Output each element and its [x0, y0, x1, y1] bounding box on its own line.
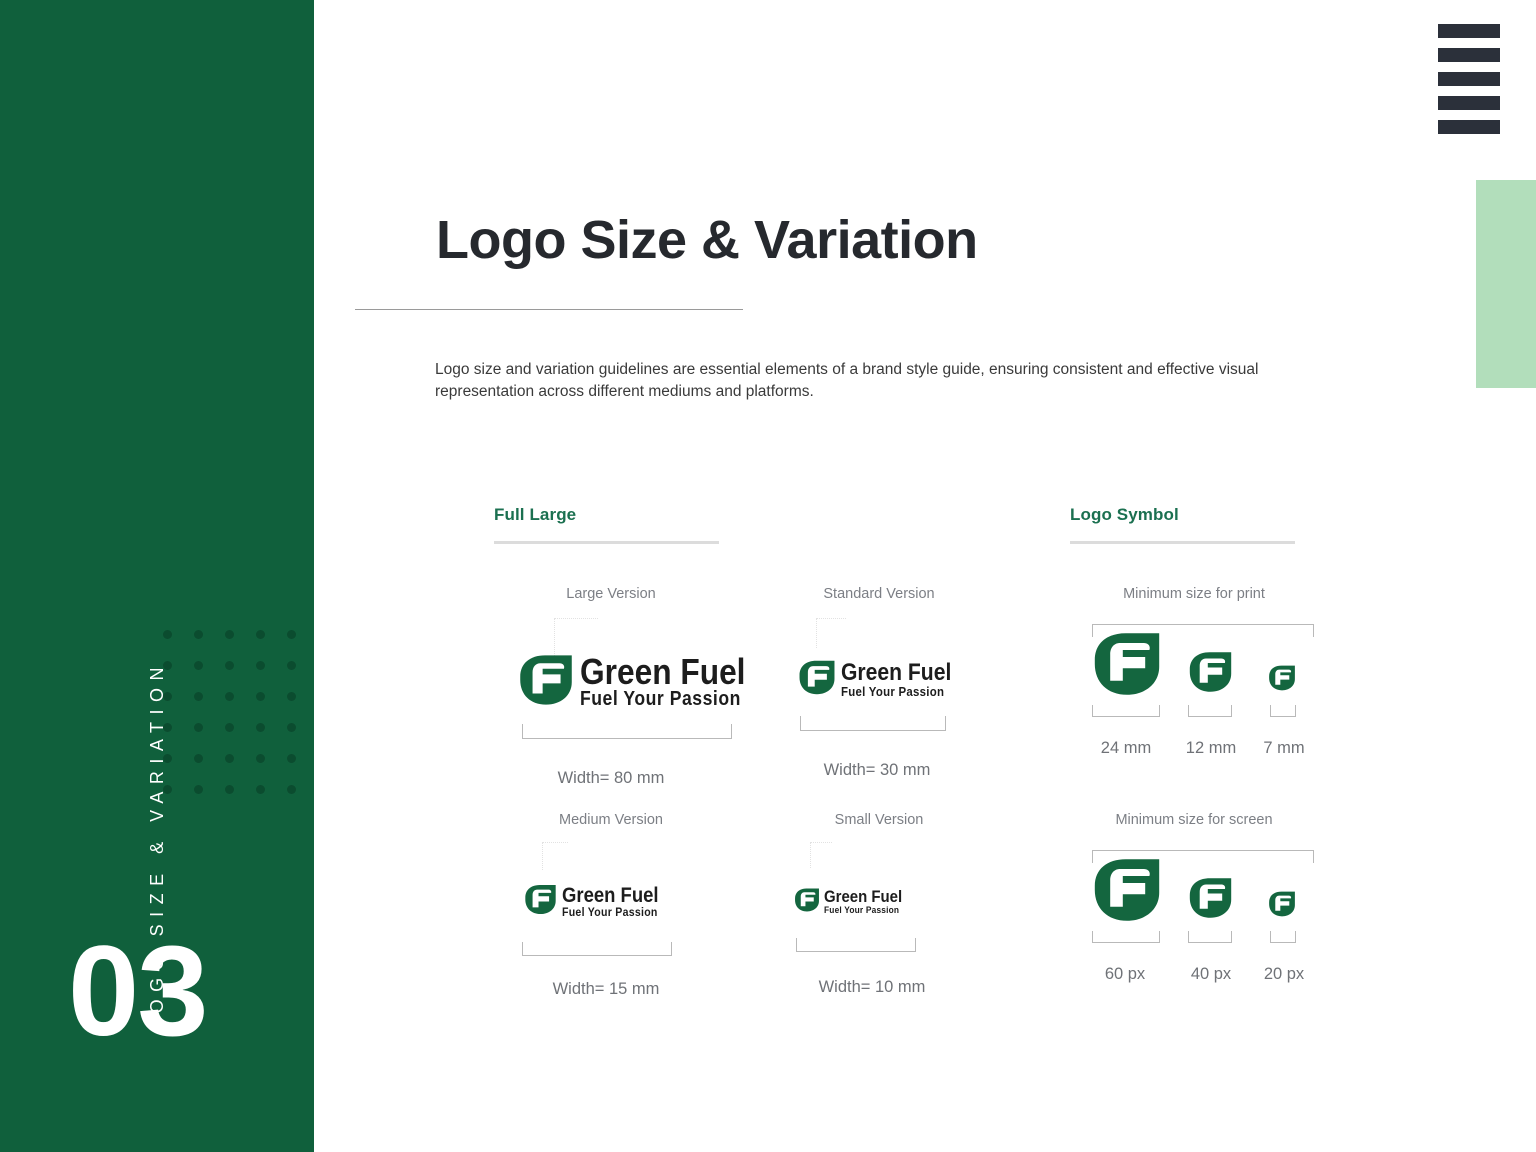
specimen-small-version: Small Version Green Fuel Fuel Your Passi… — [754, 812, 1004, 997]
decor-dot — [287, 630, 296, 639]
slide-content: Logo Size & Variation Logo size and vari… — [314, 0, 1536, 1152]
logo-wordmark: Green Fuel Fuel Your Passion — [580, 655, 768, 710]
clearspace-guide-icon — [816, 618, 846, 648]
width-bracket — [1188, 931, 1232, 943]
logo-wordmark: Green Fuel Fuel Your Passion — [824, 889, 913, 915]
decor-dot — [163, 754, 172, 763]
page-number: 03 — [68, 928, 206, 1056]
specimen-measure: Width= 30 mm — [750, 761, 1004, 780]
symbol-specimen — [1268, 665, 1296, 696]
specimen-standard-version: Standard Version Green Fuel Fuel Your Pa… — [754, 586, 1004, 780]
specimen-measure: Width= 10 mm — [740, 978, 1004, 997]
decor-dot — [163, 661, 172, 670]
symbol-specimen — [1188, 877, 1233, 924]
decor-dot — [225, 692, 234, 701]
decor-dot — [287, 661, 296, 670]
green-fuel-leaf-f-mark — [524, 884, 557, 920]
specimen-measure: Width= 80 mm — [466, 769, 756, 788]
green-fuel-leaf-f-mark — [1188, 877, 1233, 919]
section-divider-full-large — [494, 541, 719, 544]
section-divider-logo-symbol — [1070, 541, 1295, 544]
decor-dot — [287, 785, 296, 794]
symbol-group-label: Minimum size for screen — [1054, 812, 1334, 828]
decor-dot — [163, 692, 172, 701]
logo-wordmark: Green Fuel Fuel Your Passion — [841, 662, 966, 698]
symbol-group-label: Minimum size for print — [1054, 586, 1334, 602]
specimen-label: Medium Version — [466, 812, 756, 828]
symbol-measure: 12 mm — [1178, 739, 1244, 758]
logo-tagline: Fuel Your Passion — [562, 906, 659, 919]
decor-dot — [256, 754, 265, 763]
clearspace-guide-icon — [810, 842, 832, 868]
width-bracket — [522, 942, 672, 956]
specimen-label: Standard Version — [754, 586, 1004, 602]
green-fuel-leaf-f-mark — [1092, 631, 1162, 697]
green-fuel-leaf-f-mark — [1092, 857, 1162, 923]
logo-tagline: Fuel Your Passion — [824, 906, 902, 916]
logo-name: Green Fuel — [562, 886, 659, 906]
logo-lockup: Green Fuel Fuel Your Passion — [518, 654, 768, 711]
logo-lockup: Green Fuel Fuel Your Passion — [794, 888, 913, 917]
symbol-measure: 60 px — [1086, 965, 1164, 984]
clearspace-guide-icon — [542, 842, 568, 870]
green-fuel-leaf-f-mark — [1188, 651, 1233, 693]
symbol-specimen — [1092, 631, 1162, 702]
decor-dot — [256, 723, 265, 732]
logo-name: Green Fuel — [580, 655, 745, 689]
decor-dot — [163, 785, 172, 794]
decor-dot — [225, 630, 234, 639]
decor-dot — [163, 630, 172, 639]
specimen-medium-version: Medium Version Green Fuel Fuel Your Pass… — [466, 812, 756, 999]
decor-dot — [287, 692, 296, 701]
width-bracket — [1092, 931, 1160, 943]
decor-dot — [194, 785, 203, 794]
decorative-dot-grid — [163, 630, 313, 790]
logo-name: Green Fuel — [824, 889, 902, 905]
decor-dot — [225, 661, 234, 670]
width-bracket — [522, 724, 732, 739]
green-fuel-leaf-f-mark — [798, 660, 836, 700]
width-bracket — [796, 938, 916, 952]
symbol-measure: 7 mm — [1258, 739, 1310, 758]
decor-dot — [287, 723, 296, 732]
decor-dot — [194, 692, 203, 701]
symbol-measure: 40 px — [1176, 965, 1246, 984]
logo-tagline: Fuel Your Passion — [841, 685, 951, 699]
decor-dot — [256, 785, 265, 794]
logo-wordmark: Green Fuel Fuel Your Passion — [562, 886, 672, 919]
specimen-large-version: Large Version Green Fuel Fuel Your Passi… — [466, 586, 756, 788]
decor-dot — [194, 723, 203, 732]
green-fuel-leaf-f-mark — [1268, 891, 1296, 917]
specimen-measure: Width= 15 mm — [456, 980, 756, 999]
section-full-large: Full Large — [494, 505, 719, 544]
decor-dot — [225, 785, 234, 794]
decor-dot — [225, 754, 234, 763]
intro-paragraph: Logo size and variation guidelines are e… — [435, 359, 1355, 403]
decor-dot — [225, 723, 234, 732]
width-bracket — [800, 716, 946, 731]
decor-dot — [287, 754, 296, 763]
logo-tagline: Fuel Your Passion — [580, 689, 745, 710]
specimen-label: Large Version — [466, 586, 756, 602]
logo-lockup: Green Fuel Fuel Your Passion — [798, 660, 966, 700]
symbol-group-screen: Minimum size for screen — [1054, 812, 1334, 965]
decor-dot — [256, 661, 265, 670]
page-title: Logo Size & Variation — [436, 209, 978, 271]
decor-dot — [194, 630, 203, 639]
decor-dot — [163, 723, 172, 732]
width-bracket — [1270, 931, 1296, 943]
section-title-full-large: Full Large — [494, 505, 719, 525]
decor-dot — [256, 692, 265, 701]
symbol-measure: 24 mm — [1088, 739, 1164, 758]
specimen-label: Small Version — [754, 812, 1004, 828]
section-logo-symbol: Logo Symbol — [1070, 505, 1295, 544]
logo-name: Green Fuel — [841, 662, 951, 685]
symbol-specimen — [1268, 891, 1296, 922]
symbol-measure: 20 px — [1256, 965, 1312, 984]
symbol-group-print: Minimum size for print 2 — [1054, 586, 1334, 739]
width-bracket — [1188, 705, 1232, 717]
width-bracket — [1270, 705, 1296, 717]
decor-dot — [256, 630, 265, 639]
width-bracket — [1092, 705, 1160, 717]
decor-dot — [194, 754, 203, 763]
title-divider — [355, 309, 743, 310]
green-fuel-leaf-f-mark — [518, 654, 574, 711]
section-title-logo-symbol: Logo Symbol — [1070, 505, 1295, 525]
green-fuel-leaf-f-mark — [1268, 665, 1296, 691]
green-fuel-leaf-f-mark — [794, 888, 820, 917]
logo-lockup: Green Fuel Fuel Your Passion — [524, 884, 672, 920]
symbol-specimen — [1092, 857, 1162, 928]
decor-dot — [194, 661, 203, 670]
sidebar: LOGO SIZE & VARIATION 03 — [0, 0, 314, 1152]
symbol-specimen — [1188, 651, 1233, 698]
